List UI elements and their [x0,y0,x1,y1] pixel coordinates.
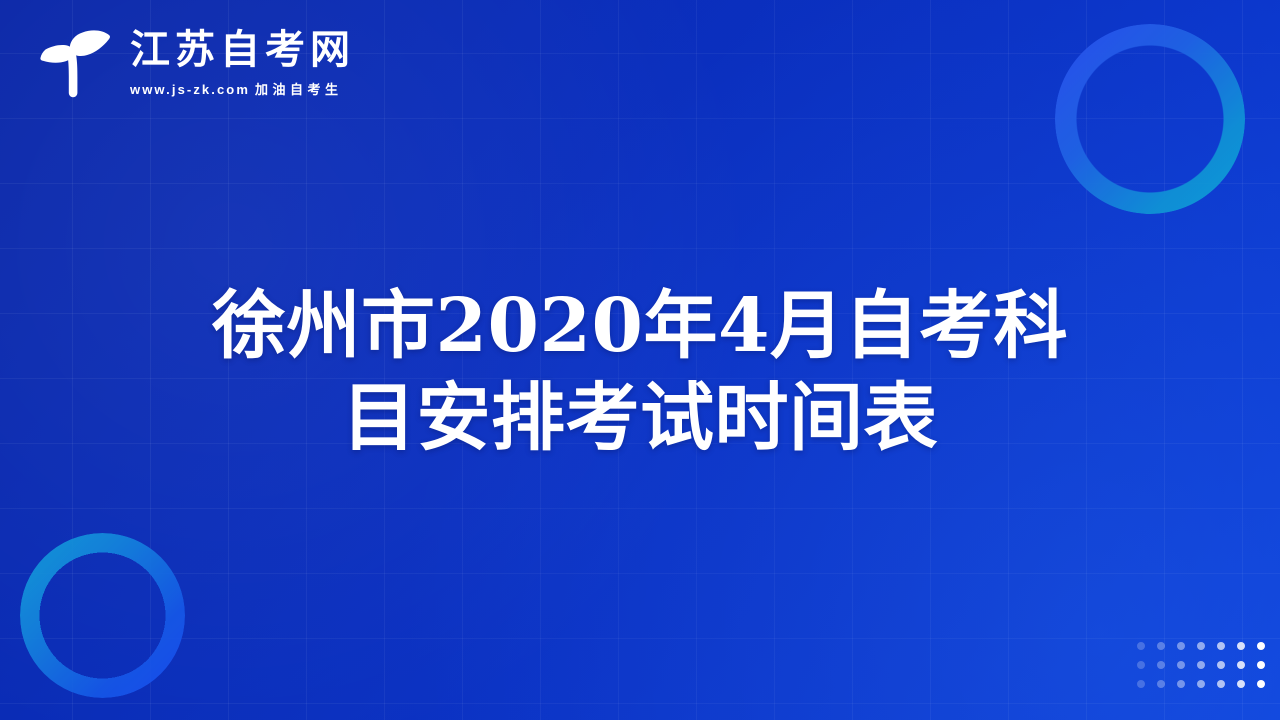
dot [1177,661,1185,669]
page-title-line-1: 徐州市2020年4月自考科 [180,281,1100,373]
site-logo[interactable]: 江苏自考网 www.js-zk.com加油自考生 [34,26,355,100]
dot [1137,680,1145,688]
tagline-url: www.js-zk.com [130,82,250,97]
brand-name: 江苏自考网 [130,28,355,73]
dot [1197,661,1205,669]
dot [1157,680,1165,688]
ring-bottom-left-decoration [20,533,185,698]
dot [1197,680,1205,688]
brand-tagline: www.js-zk.com加油自考生 [130,79,355,98]
tagline-slogan: 加油自考生 [255,82,343,97]
dot [1257,642,1265,650]
dot [1157,661,1165,669]
dot [1137,642,1145,650]
dot [1237,642,1245,650]
dot [1217,661,1225,669]
ring-top-right-decoration [1055,24,1245,214]
dot [1257,680,1265,688]
dot [1157,642,1165,650]
dot [1237,680,1245,688]
dot [1237,661,1245,669]
dot [1217,642,1225,650]
dot [1197,642,1205,650]
dot-grid-decoration [1131,636,1271,693]
poster-canvas: 江苏自考网 www.js-zk.com加油自考生 徐州市2020年4月自考科 目… [0,0,1280,720]
dot [1137,661,1145,669]
dot [1177,642,1185,650]
page-title: 徐州市2020年4月自考科 目安排考试时间表 [0,281,1280,465]
logo-text-block: 江苏自考网 www.js-zk.com加油自考生 [130,28,355,99]
dot [1177,680,1185,688]
dot [1257,661,1265,669]
dot [1217,680,1225,688]
sprout-leaf-icon [34,26,118,100]
page-title-line-2: 目安排考试时间表 [180,373,1100,465]
